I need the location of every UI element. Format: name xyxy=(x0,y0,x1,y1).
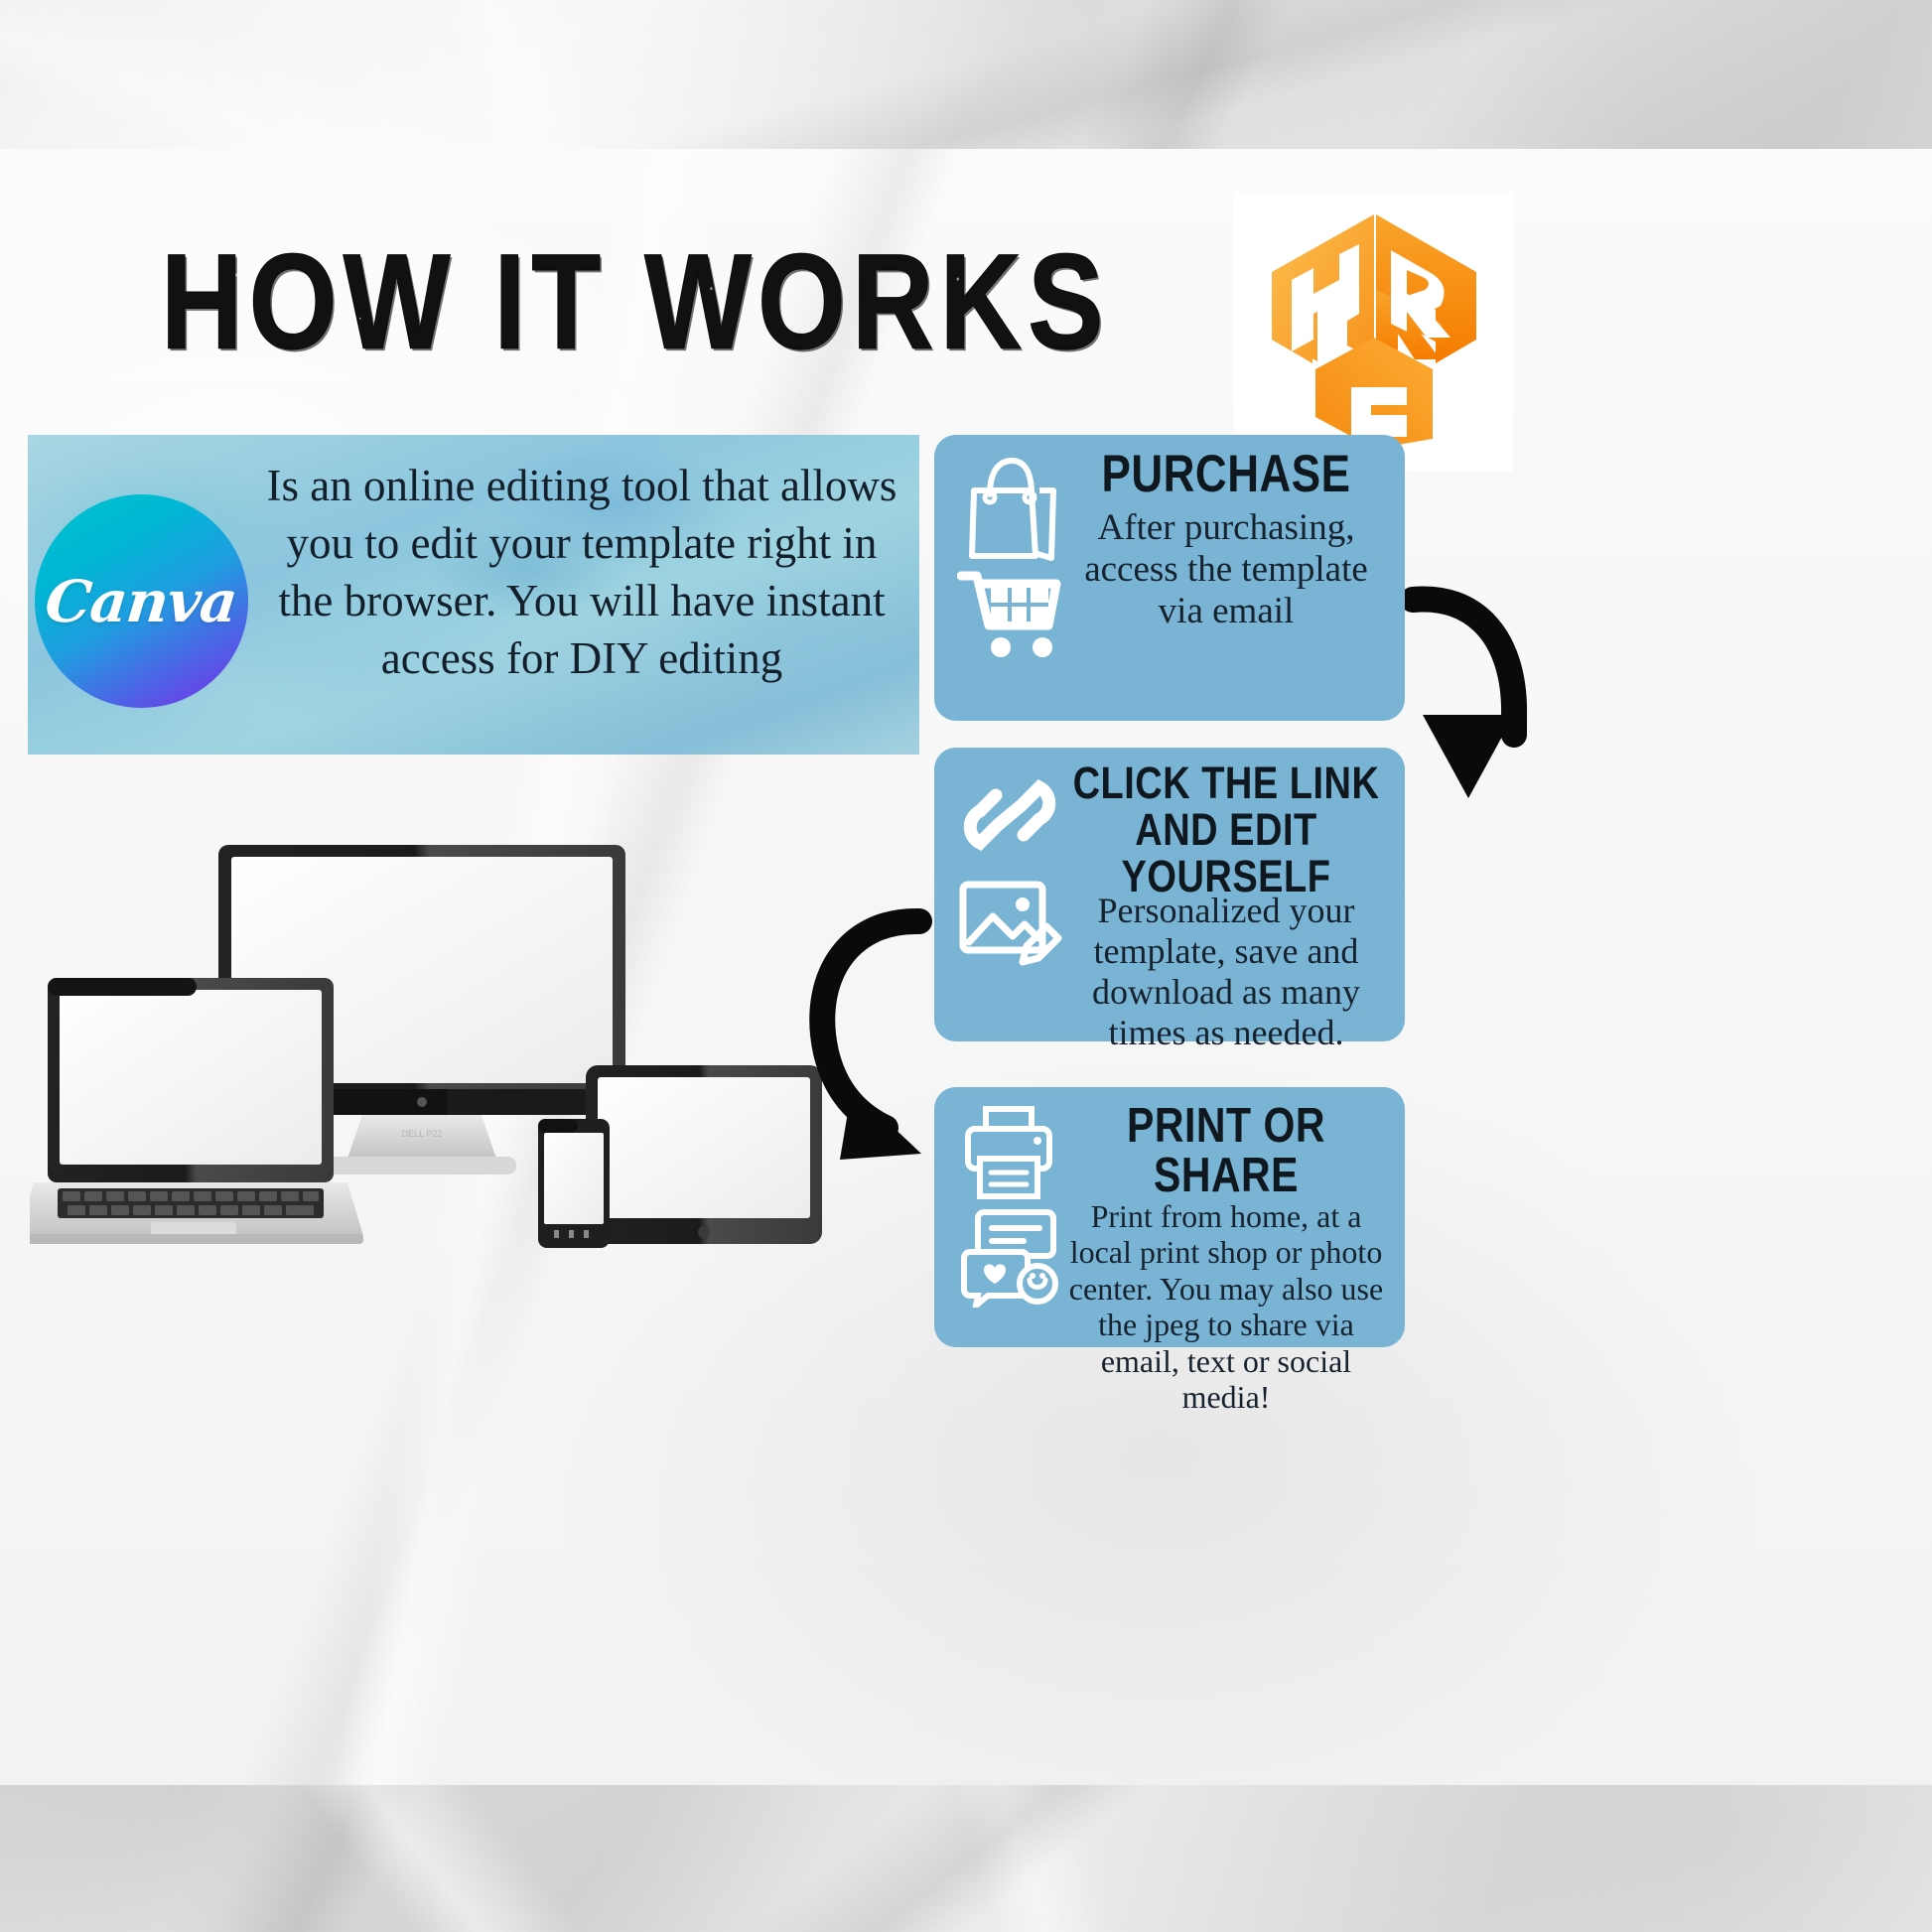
step-card-icons xyxy=(952,763,1067,976)
svg-text:DELL P22: DELL P22 xyxy=(402,1129,443,1139)
step-card-description: Personalized your template, save and dow… xyxy=(1061,891,1391,1053)
arrow-edit-to-print xyxy=(794,903,943,1186)
page-title-text: HOW IT WORKS xyxy=(161,225,1110,377)
share-message-icon xyxy=(954,1208,1065,1308)
page-title: HOW IT WORKS xyxy=(161,234,1110,370)
device-mockup-illustration: DELL P22 xyxy=(30,839,824,1315)
step-card-purchase[interactable]: PURCHASE After purchasing, access the te… xyxy=(934,435,1405,721)
step-card-description: After purchasing, access the template vi… xyxy=(1061,507,1391,633)
step-card-body: PURCHASE After purchasing, access the te… xyxy=(1061,449,1391,632)
step-card-title: PURCHASE xyxy=(1061,449,1391,502)
image-edit-icon xyxy=(955,873,1064,976)
canva-info-panel: Canva Is an online editing tool that all… xyxy=(28,435,919,755)
step-card-body: PRINT OR SHARE Print from home, at a loc… xyxy=(1061,1101,1391,1415)
brand-logo-container xyxy=(1234,193,1513,472)
step-card-icons xyxy=(952,1103,1067,1308)
device-mockups: DELL P22 xyxy=(30,839,824,1315)
shopping-cart-icon xyxy=(957,568,1062,663)
printer-icon xyxy=(958,1103,1061,1202)
step-card-print-share[interactable]: PRINT OR SHARE Print from home, at a loc… xyxy=(934,1087,1405,1347)
step-card-icons xyxy=(952,451,1067,663)
canva-logo: Canva xyxy=(35,494,248,708)
hrg-cube-logo xyxy=(1256,210,1492,453)
step-card-click-edit[interactable]: CLICK THE LINK AND EDIT YOURSELF Persona… xyxy=(934,748,1405,1041)
canva-description: Is an online editing tool that allows yo… xyxy=(264,457,899,687)
canva-wordmark: Canva xyxy=(43,568,240,635)
step-card-title: CLICK THE LINK AND EDIT YOURSELF xyxy=(1061,761,1391,900)
curved-arrow-down-right-icon xyxy=(794,903,943,1181)
step-card-title: PRINT OR SHARE xyxy=(1061,1101,1391,1200)
arrow-purchase-to-edit xyxy=(1405,586,1544,829)
shopping-bag-icon xyxy=(958,451,1061,562)
step-card-body: CLICK THE LINK AND EDIT YOURSELF Persona… xyxy=(1061,761,1391,1053)
step-card-description: Print from home, at a local print shop o… xyxy=(1061,1198,1391,1416)
infographic-canvas: HOW IT WORKS xyxy=(0,0,1932,1932)
curved-arrow-down-right-icon xyxy=(1405,586,1544,824)
link-icon xyxy=(956,763,1063,867)
